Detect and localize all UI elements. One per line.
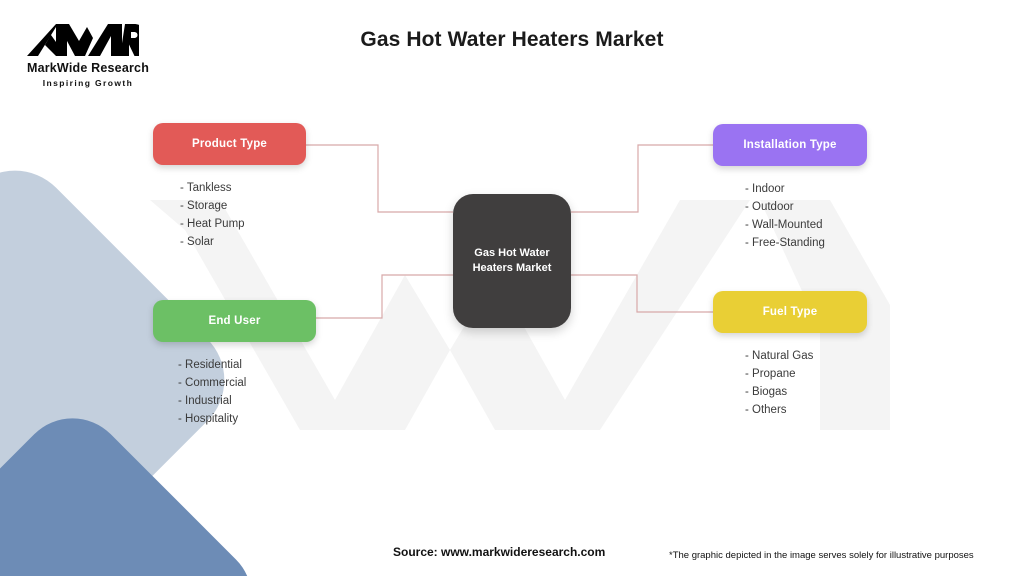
source-note: Source: www.markwideresearch.com: [393, 545, 605, 559]
branch-title-end-user: End User: [208, 315, 260, 327]
branch-items-product-type: - Tankless - Storage - Heat Pump - Solar: [153, 179, 306, 251]
connector-fuel-type: [571, 275, 713, 312]
branch-header-end-user[interactable]: End User: [153, 300, 316, 342]
hub-label-line1: Gas Hot Water: [474, 247, 549, 259]
connector-end-user: [316, 275, 453, 318]
connector-product-type: [306, 145, 453, 212]
list-item: - Commercial: [178, 374, 316, 392]
list-item: - Solar: [180, 233, 306, 251]
list-item: - Hospitality: [178, 410, 316, 428]
list-item: - Propane: [745, 365, 867, 383]
list-item: - Industrial: [178, 392, 316, 410]
hub-label: Gas Hot Water Heaters Market: [464, 246, 560, 276]
branch-header-product-type[interactable]: Product Type: [153, 123, 306, 165]
connector-installation-type: [571, 145, 713, 212]
list-item: - Natural Gas: [745, 347, 867, 365]
list-item: - Free-Standing: [745, 234, 867, 252]
branch-items-installation-type: - Indoor - Outdoor - Wall-Mounted - Free…: [713, 180, 867, 252]
hub-node[interactable]: Gas Hot Water Heaters Market: [453, 194, 571, 328]
branch-fuel-type[interactable]: Fuel Type - Natural Gas - Propane - Biog…: [713, 291, 867, 419]
branch-end-user[interactable]: End User - Residential - Commercial - In…: [153, 300, 316, 428]
branch-title-installation-type: Installation Type: [743, 139, 836, 151]
list-item: - Outdoor: [745, 198, 867, 216]
list-item: - Indoor: [745, 180, 867, 198]
diagram-canvas: MarkWide Research Inspiring Growth Gas H…: [0, 0, 1024, 576]
page-title: Gas Hot Water Heaters Market: [0, 28, 1024, 52]
logo-company-name: MarkWide Research: [18, 61, 158, 75]
list-item: - Wall-Mounted: [745, 216, 867, 234]
list-item: - Biogas: [745, 383, 867, 401]
branch-header-fuel-type[interactable]: Fuel Type: [713, 291, 867, 333]
disclaimer-note: *The graphic depicted in the image serve…: [669, 550, 974, 561]
branch-items-fuel-type: - Natural Gas - Propane - Biogas - Other…: [713, 347, 867, 419]
list-item: - Tankless: [180, 179, 306, 197]
list-item: - Storage: [180, 197, 306, 215]
list-item: - Others: [745, 401, 867, 419]
branch-installation-type[interactable]: Installation Type - Indoor - Outdoor - W…: [713, 124, 867, 252]
list-item: - Heat Pump: [180, 215, 306, 233]
hub-label-line2: Heaters Market: [473, 262, 552, 274]
logo-tagline: Inspiring Growth: [18, 78, 158, 88]
branch-header-installation-type[interactable]: Installation Type: [713, 124, 867, 166]
branch-items-end-user: - Residential - Commercial - Industrial …: [153, 356, 316, 428]
branch-product-type[interactable]: Product Type - Tankless - Storage - Heat…: [153, 123, 306, 251]
branch-title-product-type: Product Type: [192, 138, 267, 150]
list-item: - Residential: [178, 356, 316, 374]
branch-title-fuel-type: Fuel Type: [763, 306, 818, 318]
